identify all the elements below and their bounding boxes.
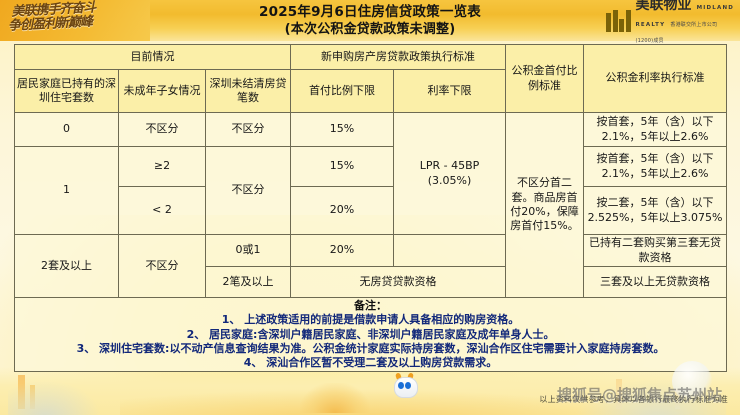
cell-minor-children: 不区分 [119, 235, 206, 298]
cell-unsettled-loans: 2笔及以上 [206, 267, 291, 298]
cell-minor-children: 不区分 [119, 113, 206, 147]
mascot-icon [392, 373, 418, 397]
header-downpayment-min: 首付比例下限 [291, 70, 394, 113]
notes-row: 备注： 1、 上述政策适用的前提是借款申请人具备相应的购房资格。 2、 居民家庭… [15, 298, 727, 372]
cell-fund-rate: 已持有二套购买第三套无贷款资格 [584, 235, 727, 267]
cell-downpayment-min: 20% [291, 187, 394, 235]
table-row: < 2 20% 按二套，5年（含）以下2.525%，5年以上3.075% [15, 187, 727, 235]
cell-minor-children: < 2 [119, 187, 206, 235]
cell-downpayment-min: 20% [291, 235, 394, 267]
cell-owned-units: 2套及以上 [15, 235, 119, 298]
policy-table: 目前情况 新申购房产房贷款政策执行标准 公积金首付比例标准 公积金利率执行标准 … [14, 44, 727, 372]
midland-logo-icon [606, 10, 631, 32]
cell-downpayment-min: 15% [291, 147, 394, 187]
header-owned-units: 居民家庭已持有的深圳住宅套数 [15, 70, 119, 113]
table-row: 2套及以上 不区分 0或1 20% 已持有二套购买第三套无贷款资格 [15, 235, 727, 267]
pagoda-decoration [300, 383, 370, 413]
table-row: 0 不区分 不区分 15% LPR - 45BP (3.05%) 不区分首二套。… [15, 113, 727, 147]
table-group-header-row: 目前情况 新申购房产房贷款政策执行标准 公积金首付比例标准 公积金利率执行标准 [15, 45, 727, 70]
title-line-2: (本次公积金贷款政策未调整) [170, 21, 570, 39]
header-fund-rate-standard: 公积金利率执行标准 [584, 45, 727, 113]
cell-unsettled-loans: 0或1 [206, 235, 291, 267]
rate-min-line-1: LPR - 45BP [396, 159, 503, 173]
brand-logo-text: 美联物业 MIDLAND REALTY 香港联交所上市公司(1200)成员 [636, 0, 735, 46]
cell-unsettled-loans: 不区分 [206, 147, 291, 235]
page-title: 2025年9月6日住房信贷政策一览表 (本次公积金贷款政策未调整) [170, 3, 570, 39]
cell-fund-rate: 按首套，5年（含）以下2.1%，5年以上2.6% [584, 113, 727, 147]
cell-downpayment-min: 15% [291, 113, 394, 147]
poster-root: 美联携手齐奋斗 争创盈利新巅峰 2025年9月6日住房信贷政策一览表 (本次公积… [0, 0, 740, 415]
cell-fund-rate: 按二套，5年（含）以下2.525%，5年以上3.075% [584, 187, 727, 235]
cell-rate-min [394, 235, 506, 267]
cell-no-loan-qualification: 无房贷贷款资格 [291, 267, 506, 298]
cell-owned-units: 1 [15, 147, 119, 235]
cell-fund-downpayment: 不区分首二套。商品房首付20%，保障房首付15%。 [506, 113, 584, 298]
cell-fund-rate: 三套及以上无贷款资格 [584, 267, 727, 298]
cell-fund-rate: 按首套，5年（含）以下2.1%，5年以上2.6% [584, 147, 727, 187]
note-item: 3、 深圳住宅套数:以不动产信息查询结果为准。公积金统计家庭实际持房套数，深汕合… [17, 342, 724, 356]
cell-owned-units: 0 [15, 113, 119, 147]
brand-name-cn: 美联物业 [636, 0, 692, 13]
cell-unsettled-loans: 不区分 [206, 113, 291, 147]
notes-heading: 备注： [17, 299, 724, 313]
brand-logo: 美联物业 MIDLAND REALTY 香港联交所上市公司(1200)成员 [606, 4, 734, 38]
note-item: 1、 上述政策适用的前提是借款申请人具备相应的购房资格。 [17, 313, 724, 327]
header-current-situation: 目前情况 [15, 45, 291, 70]
header-fund-downpayment-ratio: 公积金首付比例标准 [506, 45, 584, 113]
header-minor-children: 未成年子女情况 [119, 70, 206, 113]
cell-rate-min: LPR - 45BP (3.05%) [394, 113, 506, 235]
notes-cell: 备注： 1、 上述政策适用的前提是借款申请人具备相应的购房资格。 2、 居民家庭… [15, 298, 727, 372]
blue-haze-left [8, 381, 100, 415]
table-row: 1 ≥2 不区分 15% 按首套，5年（含）以下2.1%，5年以上2.6% [15, 147, 727, 187]
cell-minor-children: ≥2 [119, 147, 206, 187]
header-unsettled-loans: 深圳未结清房贷笔数 [206, 70, 291, 113]
header-new-mortgage-standard: 新申购房产房贷款政策执行标准 [291, 45, 506, 70]
title-line-1: 2025年9月6日住房信贷政策一览表 [170, 3, 570, 21]
note-item: 4、 深汕合作区暂不受理二套及以上购房贷款需求。 [17, 356, 724, 370]
rate-min-line-2: (3.05%) [396, 174, 503, 188]
note-item: 2、 居民家庭:含深圳户籍居民家庭、非深圳户籍居民家庭及成年单身人士。 [17, 328, 724, 342]
header-rate-min: 利率下限 [394, 70, 506, 113]
watermark-text: 搜狐号@搜狐焦点苏州站 [557, 384, 722, 405]
